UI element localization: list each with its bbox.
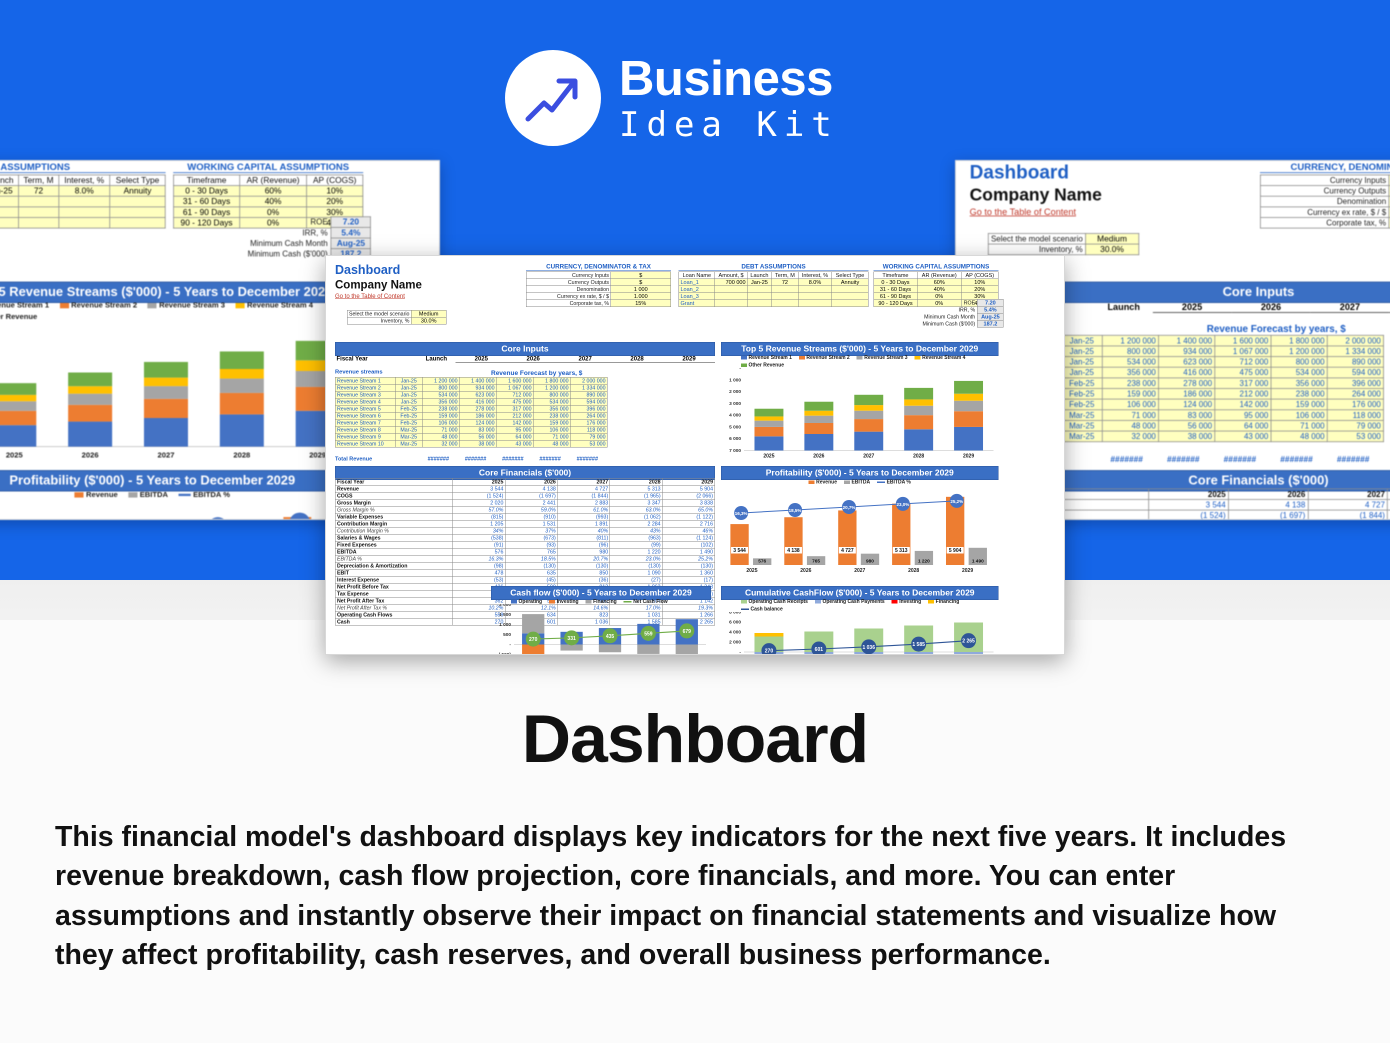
core-fin-value: (1 844) <box>558 492 610 499</box>
revenue-value[interactable]: 106 000 <box>1271 410 1327 421</box>
scenario-label: Inventory, % <box>988 244 1085 255</box>
core-fin-value: 2 020 <box>453 499 505 506</box>
core-fin-value: (93) <box>505 541 557 548</box>
legend-item: Revenue Stream 3 <box>148 301 225 309</box>
revenue-value[interactable]: 48 000 <box>422 433 459 440</box>
core-fin-row-label: EBITDA <box>335 548 453 555</box>
debt-cell[interactable] <box>0 218 18 229</box>
legend-item: Financing <box>928 599 959 605</box>
debt-cell[interactable] <box>772 293 798 300</box>
wc-cell[interactable]: 61 - 90 Days <box>874 293 917 300</box>
revenue-value[interactable]: 1 067 000 <box>1215 346 1271 357</box>
debt-cell[interactable] <box>715 293 747 300</box>
debt-cell[interactable] <box>59 218 110 229</box>
debt-cell[interactable]: Jan-25 <box>747 279 771 286</box>
revenue-value[interactable]: 356 000 <box>533 405 570 412</box>
revenue-stream-name[interactable]: Revenue Stream 8 <box>335 426 395 433</box>
revenue-value[interactable]: 800 000 <box>422 384 459 391</box>
core-fin-value: (17) <box>662 576 714 583</box>
revenue-value[interactable]: 712 000 <box>1215 357 1271 368</box>
revenue-launch[interactable]: Feb-25 <box>1061 389 1102 400</box>
revenue-launch[interactable]: Jan-25 <box>395 398 422 405</box>
revenue-value[interactable]: 64 000 <box>496 433 533 440</box>
total-revenue-value: ####### <box>414 456 449 462</box>
revenue-value[interactable]: 32 000 <box>422 440 459 447</box>
scenario-label: Inventory, % <box>347 317 411 324</box>
revenue-value[interactable]: 1 200 000 <box>422 377 459 384</box>
revenue-value[interactable]: 56 000 <box>1159 420 1215 431</box>
revenue-launch[interactable]: Feb-25 <box>1061 399 1102 410</box>
wc-cell[interactable]: 20% <box>961 286 998 293</box>
core-fin-value: 1 490 <box>662 548 714 555</box>
debt-cell[interactable] <box>110 207 165 218</box>
svg-text:500: 500 <box>503 632 511 638</box>
core-fin-value: (2 066) <box>662 492 714 499</box>
debt-cell[interactable] <box>772 300 798 307</box>
revenue-value[interactable]: 79 000 <box>570 433 607 440</box>
revenue-value[interactable]: 48 000 <box>1102 420 1158 431</box>
revenue-value[interactable]: 264 000 <box>1327 389 1383 400</box>
legend-label: Revenue <box>86 491 118 499</box>
debt-cell[interactable]: 8.0% <box>798 279 832 286</box>
revenue-row: Revenue Stream 6Feb-25159 000186 000212 … <box>335 412 607 419</box>
debt-col-header: Term, M <box>18 175 58 186</box>
legend-item: Investing <box>892 599 921 605</box>
revenue-value[interactable]: 159 000 <box>1102 389 1158 400</box>
scenario-value[interactable]: 30.0% <box>411 317 446 324</box>
debt-cell[interactable] <box>798 293 832 300</box>
revenue-value[interactable]: 212 000 <box>1215 389 1271 400</box>
revenue-value[interactable]: 118 000 <box>570 426 607 433</box>
revenue-launch[interactable]: Mar-25 <box>395 433 422 440</box>
revenue-value[interactable]: 356 000 <box>1271 378 1327 389</box>
total-revenue-value: ####### <box>1090 455 1143 464</box>
core-fin-year: 2027 <box>558 478 610 485</box>
core-fin-value: (1 062) <box>610 513 662 520</box>
revenue-value[interactable]: 106 000 <box>533 426 570 433</box>
revenue-value[interactable]: 475 000 <box>496 398 533 405</box>
currency-row-value[interactable]: $ <box>611 272 671 279</box>
core-fin-value: (130) <box>505 562 557 569</box>
revenue-value[interactable]: 1 400 000 <box>1159 335 1215 346</box>
svg-text:1 000: 1 000 <box>729 377 741 383</box>
core-fin-value: 3 544 <box>1149 499 1229 510</box>
svg-text:2029: 2029 <box>309 450 326 459</box>
revenue-launch[interactable]: Mar-25 <box>1061 420 1102 431</box>
revenue-value[interactable]: 623 000 <box>459 391 496 398</box>
revenue-value[interactable]: 534 000 <box>533 398 570 405</box>
wc-cell[interactable]: 0 - 30 Days <box>874 279 917 286</box>
revenue-launch[interactable]: Jan-25 <box>1061 335 1102 346</box>
currency-row-label: Currency Outputs <box>1260 186 1388 197</box>
revenue-value[interactable]: 278 000 <box>1159 378 1215 389</box>
core-fin-value: (1 122) <box>662 513 714 520</box>
revenue-stream-name[interactable]: Revenue Stream 5 <box>335 405 395 412</box>
revenue-value[interactable]: 1 200 000 <box>533 384 570 391</box>
revenue-launch[interactable]: Feb-25 <box>395 412 422 419</box>
wc-cell[interactable]: 31 - 60 Days <box>174 196 240 207</box>
scenario-value[interactable]: 30.0% <box>1085 244 1138 255</box>
revenue-value[interactable]: 238 000 <box>1102 378 1158 389</box>
debt-cell[interactable] <box>0 207 18 218</box>
debt-cell[interactable] <box>715 300 747 307</box>
revenue-launch[interactable]: Feb-25 <box>1061 378 1102 389</box>
core-financials-row: Gross Margin2 0202 4412 8833 3473 838 <box>335 499 715 506</box>
table-of-content-link[interactable]: Go to the Table of Content <box>335 293 485 300</box>
legend-label: Revenue Stream 3 <box>159 301 225 309</box>
revenue-launch[interactable]: Jan-25 <box>395 384 422 391</box>
debt-cell[interactable]: Annuity <box>832 279 868 286</box>
revenue-value[interactable]: 48 000 <box>1271 431 1327 442</box>
legend-swatch <box>511 600 517 604</box>
year-header: 2026 <box>1232 301 1311 312</box>
revenue-value[interactable]: 1 200 000 <box>1271 346 1327 357</box>
currency-row-value[interactable]: $ <box>611 279 671 286</box>
wc-cell[interactable]: 10% <box>961 279 998 286</box>
legend-label: Revenue Stream 2 <box>71 301 137 309</box>
revenue-value[interactable]: 264 000 <box>570 412 607 419</box>
revenue-value[interactable]: 534 000 <box>422 391 459 398</box>
revenue-value[interactable]: 159 000 <box>422 412 459 419</box>
revenue-value[interactable]: 38 000 <box>459 440 496 447</box>
table-of-content-link[interactable]: Go to the Table of Content <box>970 206 1198 217</box>
wc-cell[interactable]: 10% <box>307 186 363 197</box>
currency-row-label: Currency Inputs <box>1260 175 1388 186</box>
revenue-value[interactable]: 71 000 <box>422 426 459 433</box>
svg-text:3 544: 3 544 <box>733 548 746 554</box>
scenario-selector[interactable]: Select the model scenarioMediumInventory… <box>988 233 1139 255</box>
legend-swatch <box>179 494 191 496</box>
revenue-value[interactable]: 1 800 000 <box>1271 335 1327 346</box>
top-5-revenue-streams-legend: Revenue Stream 1Revenue Stream 2Revenue … <box>721 354 999 368</box>
svg-text:331: 331 <box>567 636 576 642</box>
wc-cell[interactable]: 0 - 30 Days <box>174 186 240 197</box>
revenue-value[interactable]: 800 000 <box>533 391 570 398</box>
revenue-value[interactable]: 416 000 <box>459 398 496 405</box>
revenue-value[interactable]: 800 000 <box>1102 346 1158 357</box>
revenue-value[interactable]: 238 000 <box>533 412 570 419</box>
kpi-value: Aug-25 <box>977 313 1003 320</box>
core-fin-value: (99) <box>610 541 662 548</box>
revenue-value[interactable]: 159 000 <box>1271 399 1327 410</box>
revenue-value[interactable]: 534 000 <box>1102 357 1158 368</box>
brand-name-line1: Business <box>619 55 839 104</box>
revenue-value[interactable]: 534 000 <box>1271 367 1327 378</box>
core-fin-row-label: Cash <box>335 618 453 625</box>
revenue-value[interactable]: 2 000 000 <box>1327 335 1383 346</box>
debt-col-header: Launch <box>0 175 18 186</box>
revenue-value[interactable]: 159 000 <box>533 419 570 426</box>
revenue-value[interactable]: 95 000 <box>496 426 533 433</box>
debt-cell[interactable]: Grant <box>679 300 715 307</box>
revenue-stream-name[interactable]: Revenue Stream 4 <box>335 398 395 405</box>
revenue-value[interactable]: 53 000 <box>1327 431 1383 442</box>
debt-cell[interactable]: Loan_3 <box>679 293 715 300</box>
wc-cell[interactable]: 31 - 60 Days <box>874 286 917 293</box>
revenue-stream-name[interactable]: Revenue Stream 7 <box>335 419 395 426</box>
debt-cell[interactable]: 72 <box>18 186 58 197</box>
debt-cell[interactable] <box>832 286 868 293</box>
revenue-value[interactable]: 890 000 <box>1327 357 1383 368</box>
revenue-forecast-title: Revenue Forecast by years, $ <box>1207 323 1346 334</box>
svg-text:-: - <box>739 651 741 656</box>
currency-row-value[interactable]: 1.000 <box>611 293 671 300</box>
svg-text:1 585: 1 585 <box>912 642 925 648</box>
total-revenue-value: ####### <box>1260 455 1313 464</box>
debt-cell[interactable] <box>798 286 832 293</box>
total-revenue-value: ####### <box>489 456 524 462</box>
growth-arrow-icon <box>505 50 601 146</box>
revenue-value[interactable]: 48 000 <box>533 440 570 447</box>
core-fin-row-label: COGS <box>335 492 453 499</box>
core-fin-row-label: Interest Expense <box>335 576 453 583</box>
revenue-value[interactable]: 1 334 000 <box>1327 346 1383 357</box>
core-fin-row-label: Contribution Margin % <box>335 527 453 534</box>
revenue-value[interactable]: 53 000 <box>570 440 607 447</box>
revenue-value[interactable]: 43 000 <box>1215 431 1271 442</box>
debt-cell[interactable]: Loan_1 <box>679 279 715 286</box>
revenue-value[interactable]: 1 600 000 <box>496 377 533 384</box>
revenue-value[interactable]: 1 800 000 <box>533 377 570 384</box>
revenue-value[interactable]: 934 000 <box>459 384 496 391</box>
svg-text:2025: 2025 <box>763 454 774 460</box>
debt-cell[interactable] <box>747 293 771 300</box>
cash-flow-chart: OperatingInvestingFinancingNet Cash Flow… <box>491 598 711 655</box>
revenue-value[interactable]: 317 000 <box>1215 378 1271 389</box>
revenue-value[interactable]: 124 000 <box>459 419 496 426</box>
revenue-value[interactable]: 79 000 <box>1327 420 1383 431</box>
debt-cell[interactable] <box>0 196 18 207</box>
core-fin-value: 16.3% <box>453 555 505 562</box>
revenue-value[interactable]: 890 000 <box>570 391 607 398</box>
revenue-value[interactable]: 83 000 <box>1159 410 1215 421</box>
revenue-stream-name[interactable]: Revenue Stream 6 <box>335 412 395 419</box>
currency-row-value[interactable]: 15% <box>611 300 671 307</box>
revenue-value[interactable]: 212 000 <box>496 412 533 419</box>
revenue-launch[interactable]: Feb-25 <box>395 405 422 412</box>
top5-chart-holder: Revenue Stream 1Revenue Stream 2Revenue … <box>0 300 363 463</box>
revenue-value[interactable]: 176 000 <box>570 419 607 426</box>
revenue-launch[interactable]: Jan-25 <box>395 377 422 384</box>
revenue-value[interactable]: 396 000 <box>570 405 607 412</box>
svg-text:4 000: 4 000 <box>729 630 741 636</box>
revenue-value[interactable]: 594 000 <box>1327 367 1383 378</box>
revenue-value[interactable]: 356 000 <box>422 398 459 405</box>
debt-cell[interactable] <box>832 300 868 307</box>
revenue-value[interactable]: 64 000 <box>1215 420 1271 431</box>
debt-cell[interactable]: Annuity <box>110 186 165 197</box>
core-financials-row: Variable Expenses(815)(910)(993)(1 062)(… <box>335 513 715 520</box>
debt-cell[interactable]: 700 000 <box>715 279 747 286</box>
core-financials-row: Gross Margin %57.0%59.0%61.0%63.0%65.0% <box>335 506 715 513</box>
debt-cell[interactable] <box>18 218 58 229</box>
legend-swatch <box>236 303 245 308</box>
core-financials-row: Contribution Margin %34%37%40%43%46% <box>335 527 715 534</box>
revenue-value[interactable]: 83 000 <box>459 426 496 433</box>
revenue-value[interactable]: 238 000 <box>422 405 459 412</box>
revenue-launch[interactable]: Mar-25 <box>395 440 422 447</box>
revenue-value[interactable]: 43 000 <box>496 440 533 447</box>
wc-cell[interactable]: 61 - 90 Days <box>174 207 240 218</box>
kpi-label: ROE <box>921 299 977 306</box>
debt-cell[interactable] <box>59 196 110 207</box>
revenue-value[interactable]: 106 000 <box>1102 399 1158 410</box>
revenue-launch[interactable]: Jan-25 <box>1061 346 1102 357</box>
wc-cell[interactable]: 60% <box>240 186 307 197</box>
total-revenue-value: ####### <box>451 456 486 462</box>
svg-text:2027: 2027 <box>863 454 874 460</box>
revenue-value[interactable]: 118 000 <box>1327 410 1383 421</box>
revenue-stream-name[interactable]: Revenue Stream 10 <box>335 440 395 447</box>
revenue-value[interactable]: 278 000 <box>459 405 496 412</box>
revenue-value[interactable]: 934 000 <box>1159 346 1215 357</box>
revenue-row: Revenue Stream 7Feb-25106 000124 000142 … <box>335 419 607 426</box>
wc-cell[interactable]: 40% <box>240 196 307 207</box>
revenue-value[interactable]: 176 000 <box>1327 399 1383 410</box>
revenue-value[interactable]: 800 000 <box>1271 357 1327 368</box>
revenue-stream-name[interactable]: Revenue Stream 9 <box>335 433 395 440</box>
wc-col-header: AR (Revenue) <box>240 175 307 186</box>
revenue-value[interactable]: 1 334 000 <box>570 384 607 391</box>
wc-cell[interactable]: 40% <box>917 286 961 293</box>
legend-swatch <box>741 356 747 360</box>
wc-cell[interactable]: 20% <box>307 196 363 207</box>
core-fin-value: 20.7% <box>558 555 610 562</box>
revenue-value[interactable]: 475 000 <box>1215 367 1271 378</box>
svg-text:576: 576 <box>758 559 766 565</box>
legend-swatch <box>844 480 850 484</box>
debt-cell[interactable] <box>18 207 58 218</box>
revenue-value[interactable]: 71 000 <box>1102 410 1158 421</box>
revenue-value[interactable]: 2 000 000 <box>570 377 607 384</box>
legend-swatch <box>892 600 898 604</box>
revenue-value[interactable]: 142 000 <box>1215 399 1271 410</box>
debt-cell[interactable] <box>59 207 110 218</box>
revenue-stream-name[interactable]: Revenue Stream 2 <box>335 384 395 391</box>
revenue-value[interactable]: 95 000 <box>1215 410 1271 421</box>
revenue-value[interactable]: 142 000 <box>496 419 533 426</box>
revenue-value[interactable]: 594 000 <box>570 398 607 405</box>
debt-cell[interactable] <box>110 196 165 207</box>
revenue-value[interactable]: 71 000 <box>1271 420 1327 431</box>
revenue-stream-name[interactable]: Revenue Stream 1 <box>335 377 395 384</box>
core-fin-value: 43% <box>610 527 662 534</box>
revenue-value[interactable]: 32 000 <box>1102 431 1158 442</box>
revenue-launch[interactable]: Mar-25 <box>1061 410 1102 421</box>
svg-text:2 000: 2 000 <box>729 389 741 395</box>
year-header: 2027 <box>1310 301 1389 312</box>
debt-cell[interactable] <box>715 286 747 293</box>
dashboard-screenshot-main[interactable]: DashboardCompany NameGo to the Table of … <box>325 255 1065 655</box>
revenue-launch[interactable]: Mar-25 <box>395 426 422 433</box>
svg-text:435: 435 <box>606 634 615 640</box>
wc-col-header: Timeframe <box>874 272 917 279</box>
debt-cell[interactable]: 72 <box>772 279 798 286</box>
revenue-value[interactable]: 623 000 <box>1159 357 1215 368</box>
currency-row-value[interactable]: 1 000 <box>611 286 671 293</box>
debt-cell[interactable] <box>832 293 868 300</box>
debt-cell[interactable] <box>747 286 771 293</box>
revenue-value[interactable]: 1 600 000 <box>1215 335 1271 346</box>
wc-cell[interactable]: 90 - 120 Days <box>874 300 917 307</box>
core-fin-value: (53) <box>453 576 505 583</box>
top5-chart-holder: Revenue Stream 1Revenue Stream 2Revenue … <box>721 354 999 462</box>
revenue-value[interactable]: 396 000 <box>1327 378 1383 389</box>
core-fin-value: (1 524) <box>453 492 505 499</box>
revenue-value[interactable]: 1 400 000 <box>459 377 496 384</box>
debt-cell[interactable] <box>110 218 165 229</box>
debt-cell[interactable] <box>798 300 832 307</box>
total-revenue-value: ####### <box>526 456 561 462</box>
debt-cell[interactable] <box>18 196 58 207</box>
revenue-launch[interactable]: Jan-25 <box>1061 367 1102 378</box>
revenue-value[interactable]: 712 000 <box>496 391 533 398</box>
currency-panel-title: CURRENCY, DENOMINATOR & TAX <box>1260 162 1390 173</box>
scenario-value[interactable]: Medium <box>1085 233 1138 244</box>
svg-text:4 138: 4 138 <box>787 548 800 554</box>
total-revenue-label: Total Revenue <box>335 456 372 462</box>
cumulative-chart-holder: Operating Cash ReceiptsOperating Cash Pa… <box>721 598 999 655</box>
legend-item: Revenue <box>75 491 118 499</box>
scenario-selector[interactable]: Select the model scenarioMediumInventory… <box>347 310 446 325</box>
revenue-launch[interactable]: Jan-25 <box>1061 357 1102 368</box>
revenue-value[interactable]: 106 000 <box>422 419 459 426</box>
debt-cell[interactable]: 8.0% <box>59 186 110 197</box>
core-fin-value: 1 531 <box>505 520 557 527</box>
core-fin-value: (36) <box>558 576 610 583</box>
core-financials-row: Salaries & Wages(538)(673)(811)(963)(1 1… <box>335 534 715 541</box>
revenue-launch[interactable]: Mar-25 <box>1061 431 1102 442</box>
debt-cell[interactable]: Loan_2 <box>679 286 715 293</box>
revenue-value[interactable]: 317 000 <box>496 405 533 412</box>
revenue-value[interactable]: 56 000 <box>459 433 496 440</box>
wc-col-header: AR (Revenue) <box>917 272 961 279</box>
revenue-value[interactable]: 356 000 <box>1102 367 1158 378</box>
svg-text:270: 270 <box>765 649 774 655</box>
core-fin-row-label: Tax Expense <box>335 590 453 597</box>
wc-cell[interactable]: 60% <box>917 279 961 286</box>
core-fin-year: 2026 <box>1228 489 1308 500</box>
legend-swatch <box>741 600 747 604</box>
kpi-value: Aug-25 <box>331 238 371 249</box>
revenue-streams-label: Revenue streams <box>335 369 383 375</box>
revenue-value[interactable]: 416 000 <box>1159 367 1215 378</box>
revenue-launch[interactable]: Jan-25 <box>395 391 422 398</box>
revenue-value[interactable]: 186 000 <box>1159 389 1215 400</box>
svg-text:2029: 2029 <box>962 568 973 574</box>
debt-cell[interactable] <box>772 286 798 293</box>
revenue-value[interactable]: 186 000 <box>459 412 496 419</box>
revenue-value[interactable]: 238 000 <box>1271 389 1327 400</box>
debt-cell[interactable]: Jan-25 <box>0 186 18 197</box>
revenue-value[interactable]: 124 000 <box>1159 399 1215 410</box>
revenue-stream-name[interactable]: Revenue Stream 3 <box>335 391 395 398</box>
scenario-value[interactable]: Medium <box>411 310 446 317</box>
core-fin-value: (96) <box>558 541 610 548</box>
legend-swatch <box>75 492 84 497</box>
revenue-value[interactable]: 1 200 000 <box>1102 335 1158 346</box>
wc-cell[interactable]: 90 - 120 Days <box>174 218 240 229</box>
debt-cell[interactable] <box>747 300 771 307</box>
revenue-launch[interactable]: Feb-25 <box>395 419 422 426</box>
brand-name-line2: Idea Kit <box>619 108 839 142</box>
core-fin-row-label: Gross Margin % <box>335 506 453 513</box>
revenue-value[interactable]: 71 000 <box>533 433 570 440</box>
revenue-value[interactable]: 38 000 <box>1159 431 1215 442</box>
kpi-value: 5.4% <box>331 227 371 238</box>
legend-item: Revenue <box>809 480 837 486</box>
revenue-value[interactable]: 1 067 000 <box>496 384 533 391</box>
